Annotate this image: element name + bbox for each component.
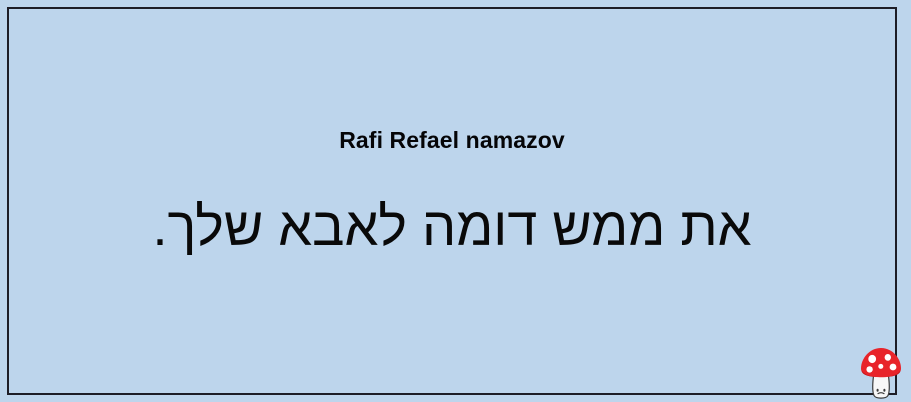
mushroom-icon[interactable] bbox=[859, 346, 903, 400]
message-body-text: את ממש דומה לאבא שלך. bbox=[9, 194, 895, 262]
author-name: Rafi Refael namazov bbox=[9, 127, 895, 155]
message-card: Rafi Refael namazov את ממש דומה לאבא שלך… bbox=[7, 7, 897, 395]
